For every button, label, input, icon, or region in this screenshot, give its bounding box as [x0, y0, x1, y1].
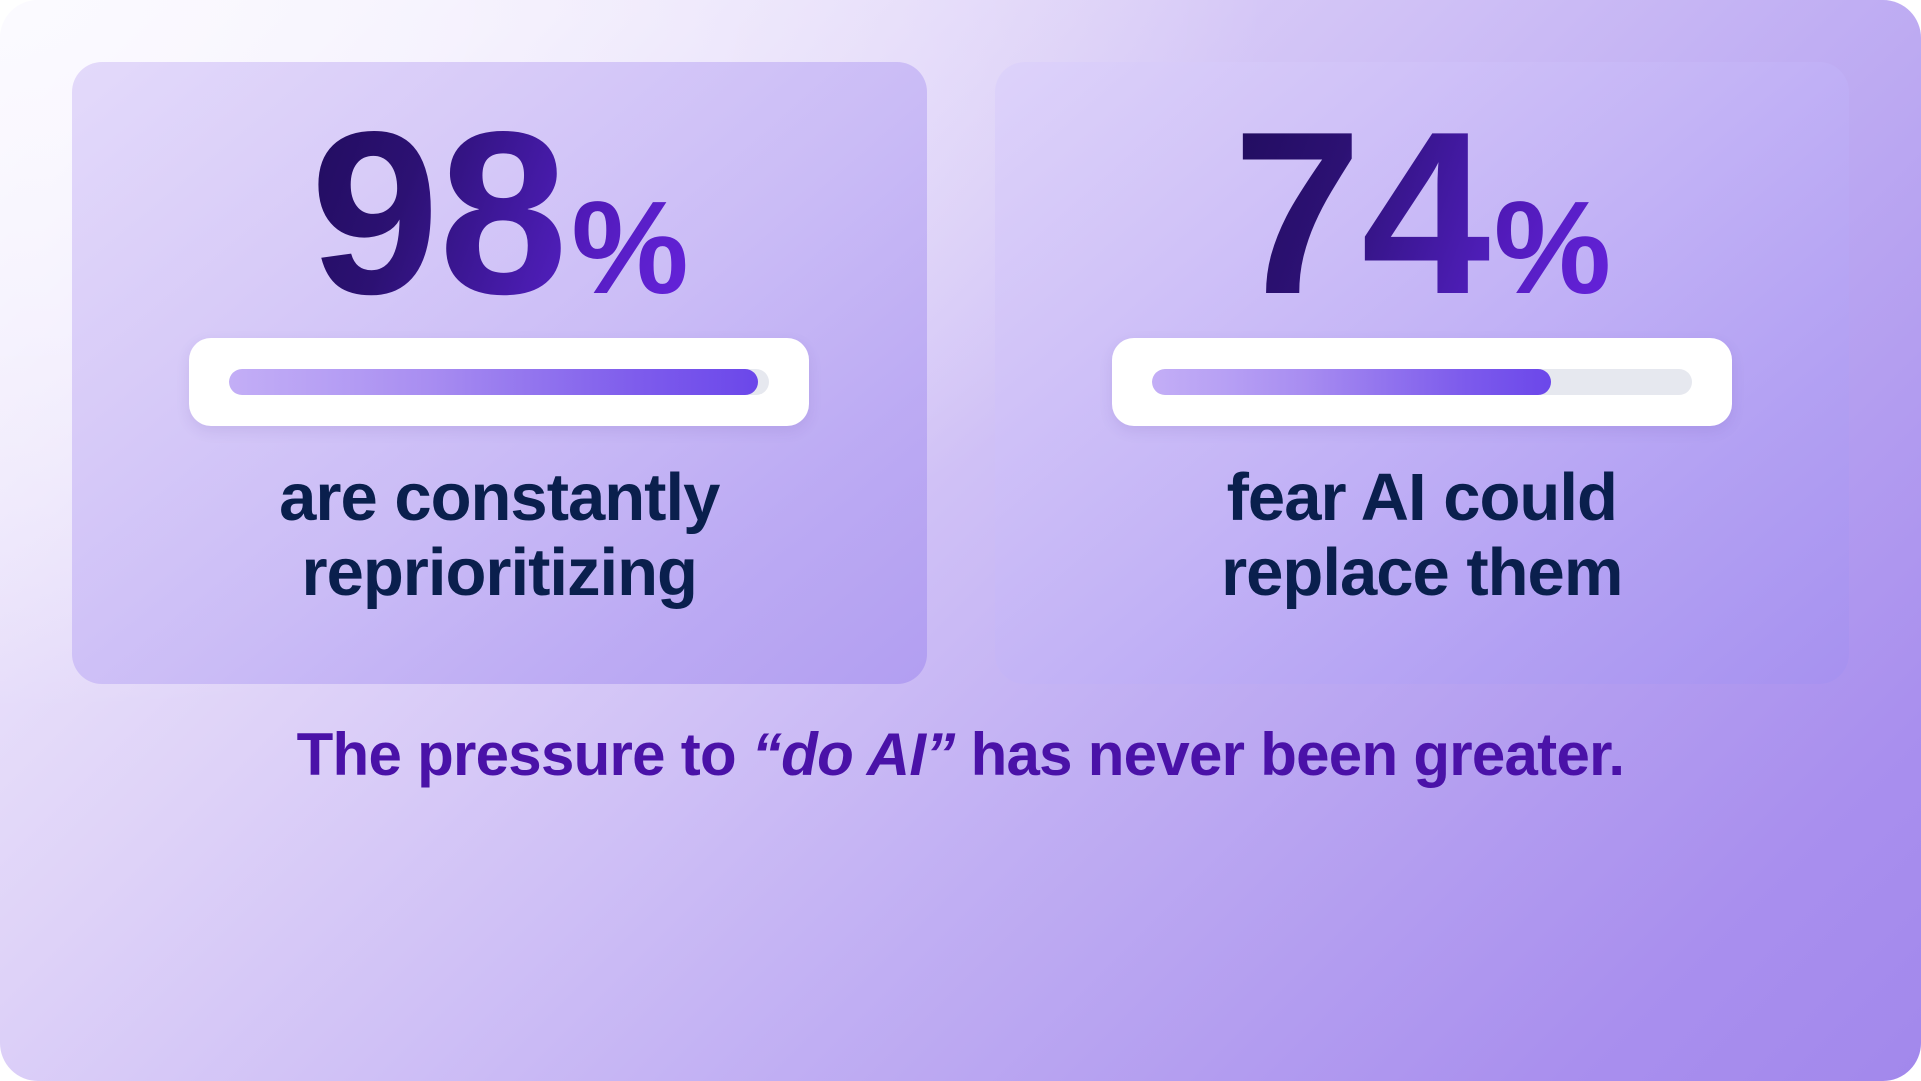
progress-bar-98: [189, 338, 809, 426]
tagline: The pressure to “do AI” has never been g…: [0, 720, 1921, 789]
caption-line-1: fear AI could: [1019, 460, 1826, 535]
caption-line-2: reprioritizing: [96, 535, 903, 610]
caption-line-1: are constantly: [96, 460, 903, 535]
tagline-quoted-do-ai: “do AI”: [752, 721, 955, 788]
stat-digits: 74: [1233, 98, 1490, 330]
progress-fill: [1152, 369, 1552, 395]
percent-symbol: %: [571, 182, 688, 314]
tagline-before: The pressure to: [297, 721, 752, 788]
tagline-after: has never been greater.: [955, 721, 1625, 788]
stat-caption-74: fear AI could replace them: [995, 460, 1850, 610]
caption-line-2: replace them: [1019, 535, 1826, 610]
stat-digits: 98: [310, 98, 567, 330]
progress-track: [1152, 369, 1692, 395]
stat-card-74: 74 % fear AI could replace them: [995, 62, 1850, 684]
progress-track: [229, 369, 769, 395]
stat-value-98: 98 %: [310, 98, 688, 328]
progress-fill: [229, 369, 758, 395]
stat-value-74: 74 %: [1233, 98, 1611, 328]
percent-symbol: %: [1494, 182, 1611, 314]
stat-caption-98: are constantly reprioritizing: [72, 460, 927, 610]
stat-card-98: 98 % are constantly reprioritizing: [72, 62, 927, 684]
infographic-root: 98 % are constantly reprioritizing 74 %: [0, 0, 1921, 1081]
stat-cards-row: 98 % are constantly reprioritizing 74 %: [72, 62, 1849, 684]
progress-bar-74: [1112, 338, 1732, 426]
